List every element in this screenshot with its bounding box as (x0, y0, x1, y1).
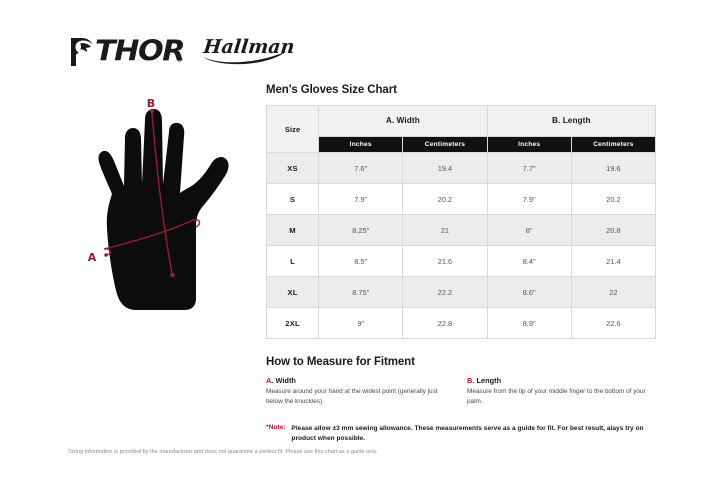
table-row: XS 7.6" 19.4 7.7" 19.6 (267, 153, 656, 184)
measure-length-label: B. Length (467, 376, 656, 385)
cell-width-cm: 21 (403, 215, 487, 246)
cell-length-in: 8" (487, 215, 571, 246)
measure-width-tag: A. (266, 376, 273, 385)
brand-logo-row: THOR ® Hallman (68, 33, 295, 70)
cell-width-in: 9" (319, 308, 403, 339)
cell-width-cm: 19.4 (403, 153, 487, 184)
cell-width-cm: 21.6 (403, 246, 487, 277)
cell-length-in: 7.7" (487, 153, 571, 184)
cell-length-in: 8.9" (487, 308, 571, 339)
thor-logo: THOR ® (68, 37, 181, 67)
cell-size: XL (267, 277, 319, 308)
cell-size: L (267, 246, 319, 277)
table-row: L 8.5" 21.6 8.4" 21.4 (267, 246, 656, 277)
cell-width-in: 7.6" (319, 153, 403, 184)
cell-size: XS (267, 153, 319, 184)
table-row: 2XL 9" 22.8 8.9" 22.6 (267, 308, 656, 339)
hallman-script-icon: Hallman (199, 33, 295, 65)
cell-length-in: 8.4" (487, 246, 571, 277)
table-header-row-groups: Size A. Width B. Length (267, 106, 656, 137)
header-width-inches: Inches (319, 136, 403, 152)
table-body: XS 7.6" 19.4 7.7" 19.6 S 7.9" 20.2 7.9" … (267, 153, 656, 339)
size-chart-table: Size A. Width B. Length Inches Centimete… (266, 105, 656, 339)
chart-content-column: Men's Gloves Size Chart Size A. Width B.… (266, 84, 658, 445)
cell-length-cm: 22 (571, 277, 655, 308)
diagram-label-a: A (88, 251, 97, 264)
header-width-centimeters: Centimeters (403, 136, 487, 152)
cell-length-cm: 19.6 (571, 153, 655, 184)
hand-measurement-diagram: B A (72, 98, 252, 313)
note-text: Please allow ±3 mm sewing allowance. The… (291, 424, 658, 445)
cell-length-in: 7.9" (487, 184, 571, 215)
hallman-logo: Hallman (199, 33, 295, 70)
cell-length-cm: 22.6 (571, 308, 655, 339)
measure-section-title: How to Measure for Fitment (266, 356, 658, 368)
cell-size: M (267, 215, 319, 246)
note-block: *Note: Please allow ±3 mm sewing allowan… (266, 424, 658, 445)
measure-width-label: A. Width (266, 376, 455, 385)
measure-length-tag: B. (467, 376, 474, 385)
page-title: Men's Gloves Size Chart (266, 84, 658, 96)
width-endpoint-left (104, 253, 107, 256)
hand-silhouette (98, 109, 228, 310)
cell-length-in: 8.6" (487, 277, 571, 308)
cell-width-cm: 22.2 (403, 277, 487, 308)
header-length-inches: Inches (487, 136, 571, 152)
cell-size: 2XL (267, 308, 319, 339)
measure-length-text: Measure from the tip of your middle fing… (467, 387, 656, 407)
thor-wordmark: THOR (95, 37, 184, 66)
table-row: M 8.25" 21 8" 20.8 (267, 215, 656, 246)
cell-length-cm: 20.8 (571, 215, 655, 246)
measure-columns: A. Width Measure around your hand at the… (266, 376, 658, 407)
measure-width-name: Width (275, 376, 295, 385)
header-group-width: A. Width (319, 106, 487, 137)
measure-length-block: B. Length Measure from the tip of your m… (467, 376, 656, 407)
table-row: S 7.9" 20.2 7.9" 20.2 (267, 184, 656, 215)
length-endpoint-bottom (170, 273, 175, 278)
cell-width-cm: 22.8 (403, 308, 487, 339)
diagram-label-b: B (147, 98, 155, 110)
cell-width-cm: 20.2 (403, 184, 487, 215)
note-tag: *Note: (266, 424, 285, 445)
measure-width-block: A. Width Measure around your hand at the… (266, 376, 455, 407)
cell-width-in: 8.5" (319, 246, 403, 277)
cell-width-in: 8.75" (319, 277, 403, 308)
cell-size: S (267, 184, 319, 215)
footer-disclaimer: Sizing information is provided by the ma… (68, 448, 398, 458)
cell-width-in: 8.25" (319, 215, 403, 246)
thor-helmet-icon (68, 37, 94, 67)
header-length-centimeters: Centimeters (571, 136, 655, 152)
table-header-row-units: Inches Centimeters Inches Centimeters (267, 136, 656, 152)
cell-length-cm: 20.2 (571, 184, 655, 215)
cell-width-in: 7.9" (319, 184, 403, 215)
header-size: Size (267, 106, 319, 153)
table-row: XL 8.75" 22.2 8.6" 22 (267, 277, 656, 308)
measure-width-text: Measure around your hand at the widest p… (266, 387, 455, 407)
cell-length-cm: 21.4 (571, 246, 655, 277)
header-group-length: B. Length (487, 106, 655, 137)
measure-length-name: Length (476, 376, 501, 385)
table-head: Size A. Width B. Length Inches Centimete… (267, 106, 656, 153)
